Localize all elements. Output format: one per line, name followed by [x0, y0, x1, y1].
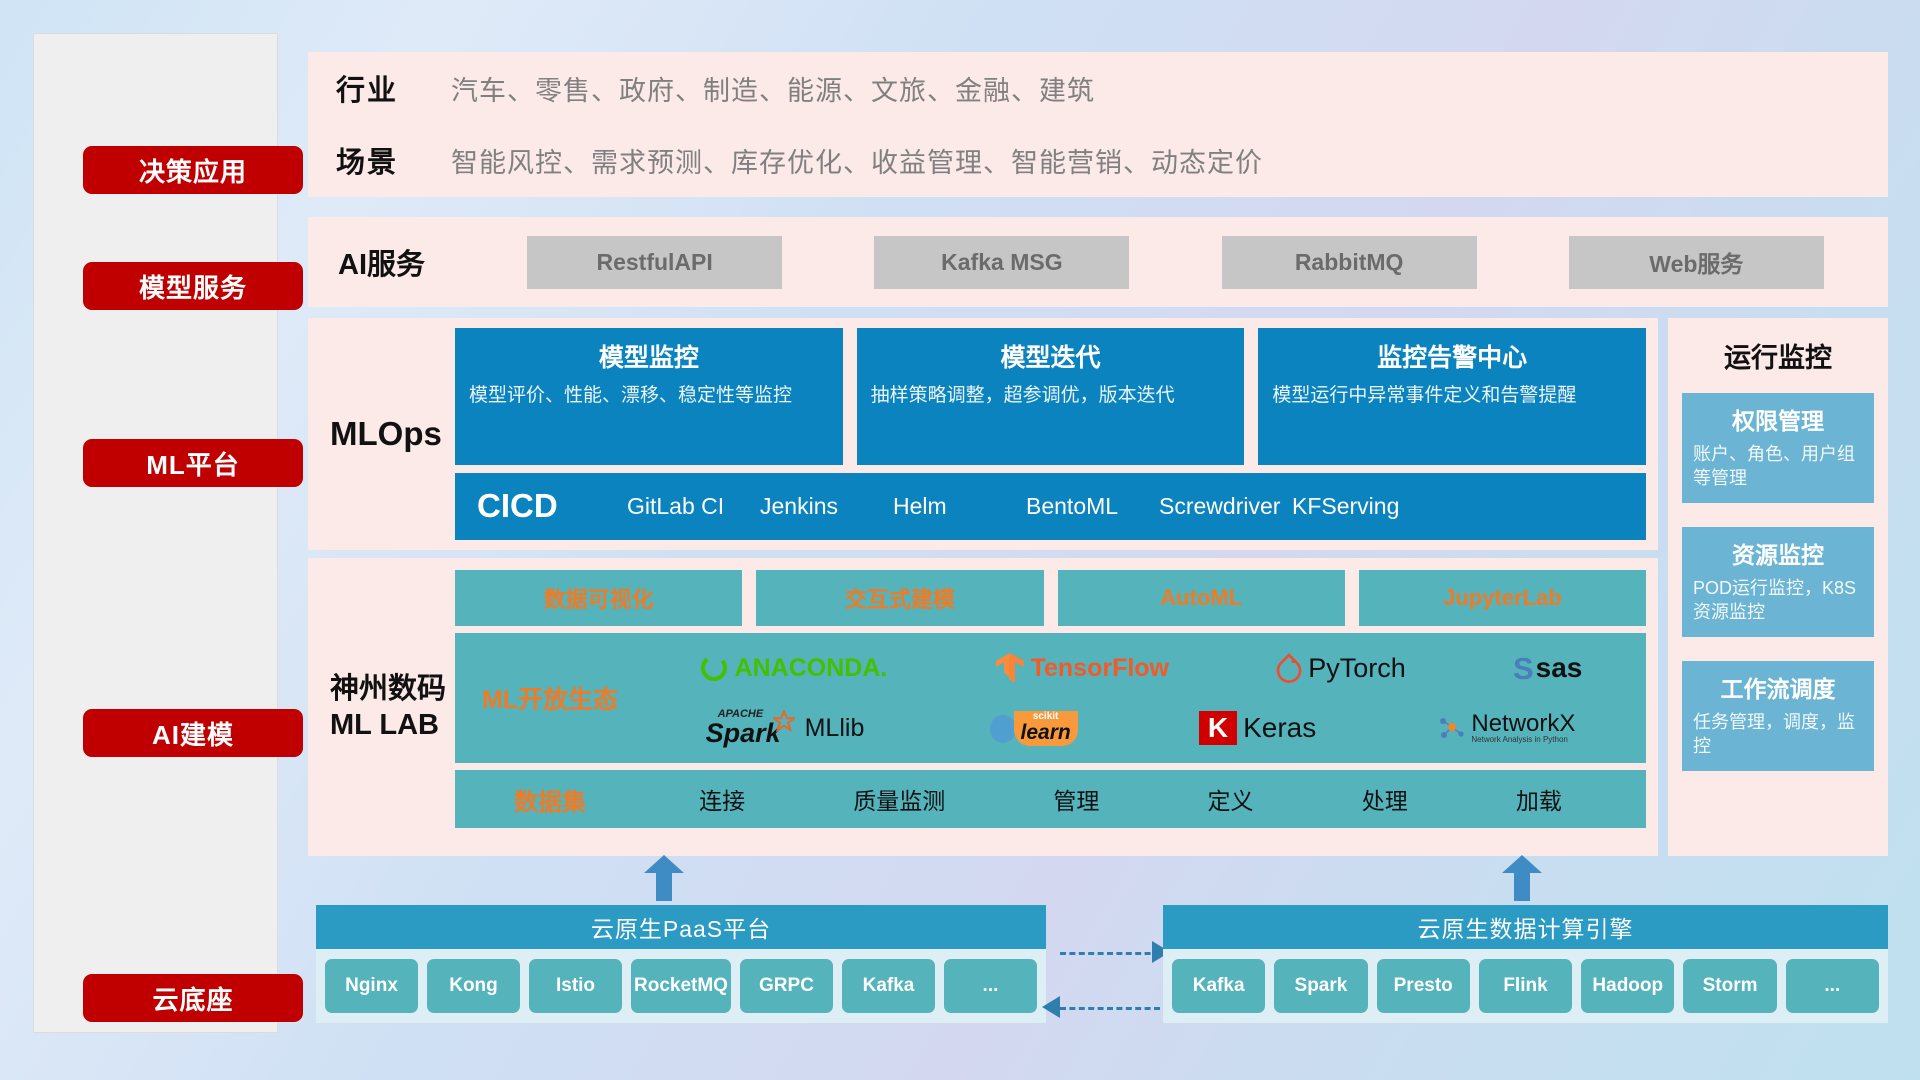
cicd-item[interactable]: BentoML — [1026, 495, 1159, 518]
ml-lab-tab-automl[interactable]: AutoML — [1058, 570, 1345, 626]
data-engine-chip[interactable]: Flink — [1479, 959, 1572, 1013]
ml-lab-tab-jupyterlab[interactable]: JupyterLab — [1359, 570, 1646, 626]
dataset-item-list: 连接 质量监测 管理 定义 处理 加载 — [645, 782, 1646, 816]
data-engine-chip[interactable]: Presto — [1377, 959, 1470, 1013]
scikit-learn-logo: scikit learn — [986, 711, 1078, 746]
dataset-item[interactable]: 管理 — [1053, 782, 1099, 816]
ai-service-label: AI服务 — [338, 241, 463, 283]
monitoring-card-resource[interactable]: 资源监控 POD运行监控，K8S资源监控 — [1682, 527, 1874, 637]
spark-mllib-logo: APACHE Spark MLlib — [706, 709, 865, 747]
mlops-card-title: 模型监控 — [469, 338, 829, 374]
data-engine-chip[interactable]: Spark — [1274, 959, 1367, 1013]
pytorch-name: PyTorch — [1308, 655, 1406, 682]
dataset-item[interactable]: 加载 — [1516, 782, 1562, 816]
industry-row: 行业 汽车、零售、政府、制造、能源、文旅、金融、建筑 — [308, 52, 1888, 124]
ai-service-chip[interactable]: RabbitMQ — [1222, 236, 1477, 289]
networkx-logo: NetworkX Network Analysis in Python — [1437, 712, 1575, 744]
ai-service-chip[interactable]: Kafka MSG — [874, 236, 1129, 289]
ml-lab-content: 数据可视化 交互式建模 AutoML JupyterLab ML开放生态 ANA… — [455, 558, 1658, 856]
networkx-graph-icon — [1437, 714, 1465, 742]
monitoring-card-title: 权限管理 — [1693, 402, 1863, 436]
paas-to-data-link — [1060, 952, 1160, 955]
mlops-card-list: 模型监控 模型评价、性能、漂移、稳定性等监控 模型迭代 抽样策略调整，超参调优，… — [455, 328, 1646, 465]
anaconda-name: ANACONDA. — [735, 656, 888, 681]
paas-chip[interactable]: Kong — [427, 959, 520, 1013]
sas-mark: S — [1513, 653, 1534, 684]
mlops-card-title: 监控告警中心 — [1272, 338, 1632, 374]
anaconda-icon — [699, 653, 729, 683]
layer-rail: 决策应用 模型服务 ML平台 AI建模 云底座 — [33, 33, 278, 1033]
mlops-card-model-iteration[interactable]: 模型迭代 抽样策略调整，超参调优，版本迭代 — [857, 328, 1245, 465]
dataset-item[interactable]: 质量监测 — [853, 782, 945, 816]
mlops-card-alert-center[interactable]: 监控告警中心 模型运行中异常事件定义和告警提醒 — [1258, 328, 1646, 465]
pytorch-logo: PyTorch — [1276, 653, 1406, 683]
ai-service-chip[interactable]: RestfulAPI — [527, 236, 782, 289]
dataset-label: 数据集 — [455, 782, 645, 817]
paas-chip[interactable]: ... — [944, 959, 1037, 1013]
paas-chip[interactable]: Nginx — [325, 959, 418, 1013]
ml-ecosystem-logo-row-2: APACHE Spark MLlib — [645, 699, 1636, 757]
ml-ecosystem-label: ML开放生态 — [455, 680, 645, 716]
mlops-content: 模型监控 模型评价、性能、漂移、稳定性等监控 模型迭代 抽样策略调整，超参调优，… — [455, 318, 1658, 550]
mlops-card-model-monitor[interactable]: 模型监控 模型评价、性能、漂移、稳定性等监控 — [455, 328, 843, 465]
data-to-paas-link — [1060, 1007, 1160, 1010]
monitoring-card-title: 资源监控 — [1693, 536, 1863, 570]
monitoring-card-title: 工作流调度 — [1693, 670, 1863, 704]
ml-lab-tab-data-viz[interactable]: 数据可视化 — [455, 570, 742, 626]
data-engine-stack: 云原生数据计算引擎 Kafka Spark Presto Flink Hadoo… — [1163, 905, 1888, 1023]
scenario-key: 场景 — [336, 139, 451, 181]
paas-stack: 云原生PaaS平台 Nginx Kong Istio RocketMQ GRPC… — [316, 905, 1046, 1023]
dataset-item[interactable]: 连接 — [699, 782, 745, 816]
networkx-tagline: Network Analysis in Python — [1471, 736, 1575, 744]
paas-chip[interactable]: Istio — [529, 959, 622, 1013]
cicd-item[interactable]: Screwdriver — [1159, 495, 1292, 518]
cicd-item[interactable]: Jenkins — [760, 495, 893, 518]
rail-item-cloud-base[interactable]: 云底座 — [83, 974, 303, 1022]
tensorflow-icon — [995, 652, 1025, 684]
data-engine-chip[interactable]: Hadoop — [1581, 959, 1674, 1013]
pytorch-icon — [1276, 653, 1302, 683]
rail-item-model-service[interactable]: 模型服务 — [83, 262, 303, 310]
data-engine-chip[interactable]: ... — [1786, 959, 1879, 1013]
rail-label: ML平台 — [146, 445, 240, 482]
industry-key: 行业 — [336, 67, 451, 109]
ai-service-band: AI服务 RestfulAPI Kafka MSG RabbitMQ Web服务 — [308, 217, 1888, 307]
dataset-row: 数据集 连接 质量监测 管理 定义 处理 加载 — [455, 770, 1646, 828]
scenario-value: 智能风控、需求预测、库存优化、收益管理、智能营销、动态定价 — [451, 141, 1263, 180]
rail-label: 云底座 — [152, 980, 233, 1017]
keras-name: Keras — [1243, 714, 1316, 742]
data-to-paas-arrowhead-icon — [1042, 996, 1060, 1018]
monitoring-card-permission[interactable]: 权限管理 账户、角色、用户组等管理 — [1682, 393, 1874, 503]
data-engine-chip[interactable]: Kafka — [1172, 959, 1265, 1013]
scenario-row: 场景 智能风控、需求预测、库存优化、收益管理、智能营销、动态定价 — [308, 124, 1888, 196]
cicd-bar: CICD GitLab CI Jenkins Helm BentoML Scre… — [455, 473, 1646, 540]
paas-chip[interactable]: RocketMQ — [631, 959, 731, 1013]
architecture-diagram: 决策应用 模型服务 ML平台 AI建模 云底座 行业 汽车、零售、政府、制造、能… — [0, 0, 1920, 1080]
rail-item-decision-app[interactable]: 决策应用 — [83, 146, 303, 194]
anaconda-logo: ANACONDA. — [699, 653, 888, 683]
ml-lab-label: 神州数码 ML LAB — [330, 558, 455, 856]
data-engine-chip[interactable]: Storm — [1683, 959, 1776, 1013]
ml-lab-label-line2: ML LAB — [330, 707, 455, 743]
cicd-item[interactable]: GitLab CI — [627, 495, 760, 518]
spark-star-icon — [773, 710, 795, 732]
dataset-item[interactable]: 定义 — [1208, 782, 1254, 816]
data-engine-title: 云原生数据计算引擎 — [1163, 905, 1888, 949]
mlops-card-desc: 模型运行中异常事件定义和告警提醒 — [1272, 383, 1632, 410]
scikit-top-text: scikit — [1033, 712, 1059, 722]
paas-chip[interactable]: GRPC — [740, 959, 833, 1013]
cicd-item[interactable]: Helm — [893, 495, 1026, 518]
ml-lab-tab-interactive-modeling[interactable]: 交互式建模 — [756, 570, 1043, 626]
rail-label: 决策应用 — [139, 152, 247, 189]
monitoring-card-workflow[interactable]: 工作流调度 任务管理，调度，监控 — [1682, 661, 1874, 771]
monitoring-panel: 运行监控 权限管理 账户、角色、用户组等管理 资源监控 POD运行监控，K8S资… — [1668, 318, 1888, 856]
industry-value: 汽车、零售、政府、制造、能源、文旅、金融、建筑 — [451, 69, 1095, 108]
ml-ecosystem-logo-grid: ANACONDA. TensorFlow — [645, 633, 1646, 763]
monitoring-card-desc: POD运行监控，K8S资源监控 — [1693, 576, 1863, 625]
ml-lab-label-line1: 神州数码 — [330, 671, 455, 707]
mllib-name: MLlib — [805, 716, 865, 741]
tensorflow-logo: TensorFlow — [995, 652, 1169, 684]
keras-mark: K — [1199, 711, 1237, 744]
data-engine-chip-list: Kafka Spark Presto Flink Hadoop Storm ..… — [1163, 949, 1888, 1023]
cicd-title: CICD — [477, 487, 627, 525]
monitoring-title: 运行监控 — [1682, 336, 1874, 375]
paas-chip[interactable]: Kafka — [842, 959, 935, 1013]
mlops-card-desc: 模型评价、性能、漂移、稳定性等监控 — [469, 383, 829, 410]
mlops-band: MLOps 模型监控 模型评价、性能、漂移、稳定性等监控 模型迭代 抽样策略调整… — [308, 318, 1658, 550]
monitoring-card-desc: 账户、角色、用户组等管理 — [1693, 442, 1863, 491]
ai-service-chip[interactable]: Web服务 — [1569, 236, 1824, 289]
dataset-item[interactable]: 处理 — [1362, 782, 1408, 816]
paas-chip-list: Nginx Kong Istio RocketMQ GRPC Kafka ... — [316, 949, 1046, 1023]
industry-scenario-band: 行业 汽车、零售、政府、制造、能源、文旅、金融、建筑 场景 智能风控、需求预测、… — [308, 52, 1888, 197]
keras-logo: K Keras — [1199, 711, 1316, 744]
tensorflow-name: TensorFlow — [1031, 656, 1169, 681]
ml-lab-tab-list: 数据可视化 交互式建模 AutoML JupyterLab — [455, 570, 1646, 626]
sas-name: sas — [1536, 654, 1583, 682]
monitoring-card-desc: 任务管理，调度，监控 — [1693, 710, 1863, 759]
spark-name: Spark — [706, 720, 781, 747]
networkx-name: NetworkX — [1471, 712, 1575, 736]
ml-lab-band: 神州数码 ML LAB 数据可视化 交互式建模 AutoML JupyterLa… — [308, 558, 1658, 856]
ai-service-chip-list: RestfulAPI Kafka MSG RabbitMQ Web服务 — [463, 236, 1888, 289]
scikit-learn-text: learn — [1021, 722, 1071, 743]
rail-label: AI建模 — [152, 715, 234, 752]
mlops-card-title: 模型迭代 — [871, 338, 1231, 374]
sas-logo: S sas — [1513, 653, 1582, 684]
rail-label: 模型服务 — [139, 268, 247, 305]
ml-ecosystem-row: ML开放生态 ANACONDA. — [455, 633, 1646, 763]
rail-item-ai-modeling[interactable]: AI建模 — [83, 709, 303, 757]
mlops-label: MLOps — [330, 318, 455, 550]
rail-item-ml-platform[interactable]: ML平台 — [83, 439, 303, 487]
mlops-card-desc: 抽样策略调整，超参调优，版本迭代 — [871, 383, 1231, 410]
ml-ecosystem-logo-row-1: ANACONDA. TensorFlow — [645, 639, 1636, 697]
paas-title: 云原生PaaS平台 — [316, 905, 1046, 949]
cicd-item[interactable]: KFServing — [1292, 495, 1425, 518]
